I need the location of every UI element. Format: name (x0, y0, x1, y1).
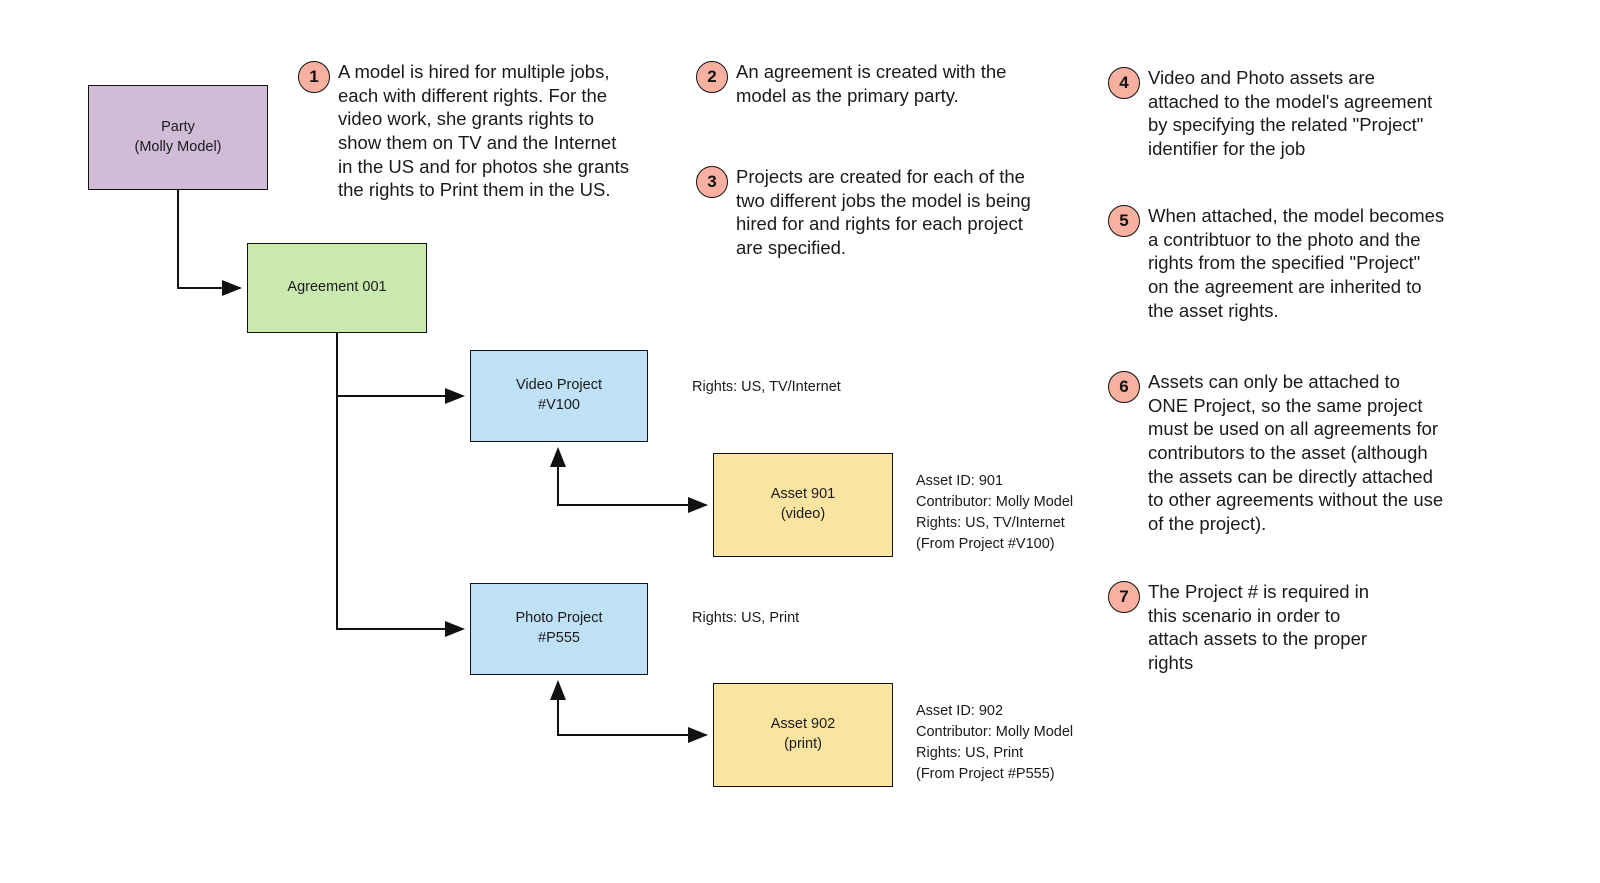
note-text-2: An agreement is created with the model a… (736, 60, 1006, 107)
note-text-5: When attached, the model becomes a contr… (1148, 204, 1444, 322)
edge-agreement-to-video-project (337, 333, 463, 396)
note-text-6: Assets can only be attached to ONE Proje… (1148, 370, 1443, 536)
node-video-project-label-line1: Video Project (516, 376, 602, 396)
edge-photo-project-to-asset-902 (558, 682, 706, 735)
note-text-3: Projects are created for each of the two… (736, 165, 1031, 260)
label-asset-901-details: Asset ID: 901 Contributor: Molly Model R… (916, 471, 1073, 555)
note-text-1: A model is hired for multiple jobs, each… (338, 60, 629, 202)
label-video-project-rights: Rights: US, TV/Internet (692, 377, 841, 398)
node-asset-901-label-line1: Asset 901 (771, 485, 836, 505)
node-asset-902[interactable]: Asset 902 (print) (713, 683, 893, 787)
node-photo-project[interactable]: Photo Project #P555 (470, 583, 648, 675)
note-badge-7: 7 (1108, 581, 1140, 613)
annotation-note-7: 7 The Project # is required in this scen… (1108, 580, 1438, 675)
note-badge-3: 3 (696, 166, 728, 198)
node-asset-902-label-line1: Asset 902 (771, 715, 836, 735)
annotation-note-2: 2 An agreement is created with the model… (696, 60, 1056, 107)
annotation-note-5: 5 When attached, the model becomes a con… (1108, 204, 1498, 322)
diagram-canvas: Party (Molly Model) Agreement 001 Video … (0, 0, 1600, 883)
node-asset-901-label-line2: (video) (781, 505, 825, 525)
annotation-note-3: 3 Projects are created for each of the t… (696, 165, 1068, 260)
note-badge-4: 4 (1108, 67, 1140, 99)
node-party-label-line2: (Molly Model) (134, 138, 221, 158)
note-text-7: The Project # is required in this scenar… (1148, 580, 1369, 675)
annotation-note-6: 6 Assets can only be attached to ONE Pro… (1108, 370, 1500, 536)
note-badge-2: 2 (696, 61, 728, 93)
label-asset-902-details: Asset ID: 902 Contributor: Molly Model R… (916, 701, 1073, 785)
node-party[interactable]: Party (Molly Model) (88, 85, 268, 190)
note-badge-1: 1 (298, 61, 330, 93)
node-asset-901[interactable]: Asset 901 (video) (713, 453, 893, 557)
note-text-4: Video and Photo assets are attached to t… (1148, 66, 1432, 161)
edge-video-project-to-asset-901 (558, 449, 706, 505)
node-video-project-label-line2: #V100 (538, 396, 580, 416)
label-photo-project-rights: Rights: US, Print (692, 608, 799, 629)
annotation-note-1: 1 A model is hired for multiple jobs, ea… (298, 60, 670, 202)
node-video-project[interactable]: Video Project #V100 (470, 350, 648, 442)
edge-agreement-to-photo-project (337, 333, 463, 629)
annotation-note-4: 4 Video and Photo assets are attached to… (1108, 66, 1486, 161)
node-agreement-001-label: Agreement 001 (287, 278, 386, 298)
edge-party-to-agreement (178, 190, 240, 288)
node-party-label-line1: Party (161, 118, 195, 138)
node-photo-project-label-line2: #P555 (538, 629, 580, 649)
note-badge-6: 6 (1108, 371, 1140, 403)
node-photo-project-label-line1: Photo Project (515, 609, 602, 629)
note-badge-5: 5 (1108, 205, 1140, 237)
node-agreement-001[interactable]: Agreement 001 (247, 243, 427, 333)
node-asset-902-label-line2: (print) (784, 735, 822, 755)
